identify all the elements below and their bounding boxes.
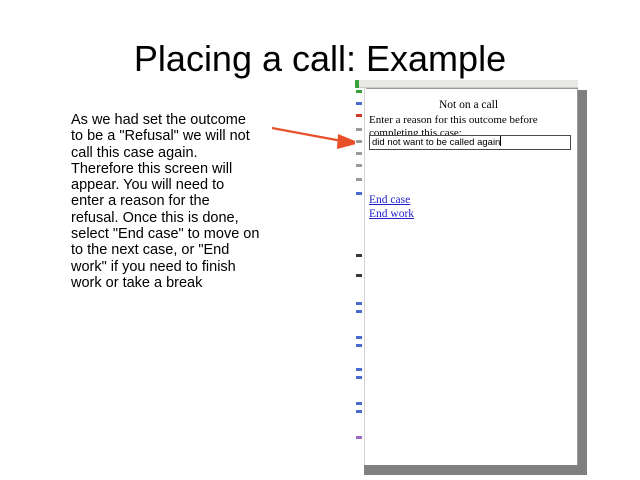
reason-input-value: did not want to be called again — [372, 137, 500, 148]
window-titlebar — [355, 80, 578, 88]
annotation-arrow-icon — [270, 118, 365, 154]
background-window-sliver — [355, 88, 365, 465]
app-content-pane: Not on a call Enter a reason for this ou… — [366, 88, 578, 465]
reason-input[interactable]: did not want to be called again — [369, 135, 571, 150]
app-action-links: End case End work — [369, 193, 414, 221]
end-case-link[interactable]: End case — [369, 193, 414, 207]
end-work-link[interactable]: End work — [369, 207, 414, 221]
window-status-dot-icon — [355, 80, 359, 88]
slide-body-text: As we had set the outcome to be a "Refus… — [71, 112, 261, 291]
page-title: Placing a call: Example — [0, 38, 640, 80]
text-caret — [500, 136, 501, 146]
app-heading: Not on a call — [366, 99, 571, 111]
screenshot-frame: Not on a call Enter a reason for this ou… — [355, 80, 578, 465]
app-screenshot: Not on a call Enter a reason for this ou… — [355, 80, 578, 465]
